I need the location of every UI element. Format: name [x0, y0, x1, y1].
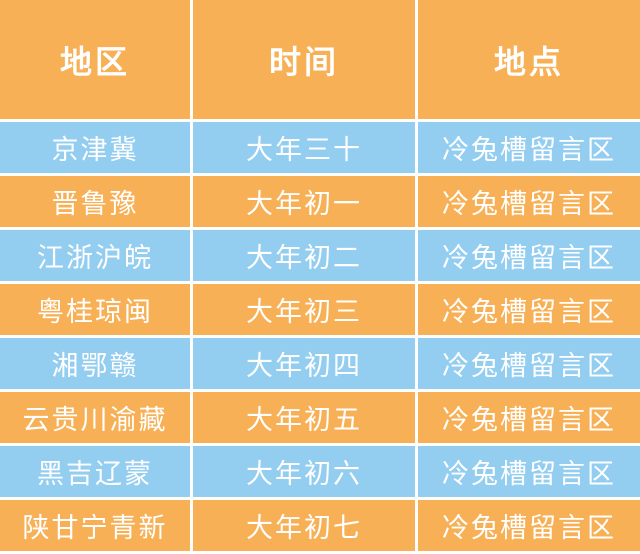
table-row: 京津冀 大年三十 冷兔槽留言区: [0, 122, 640, 176]
cell-time: 大年初四: [193, 338, 418, 392]
cell-place: 冷兔槽留言区: [418, 392, 640, 446]
column-header-region: 地区: [0, 0, 193, 122]
cell-place: 冷兔槽留言区: [418, 500, 640, 554]
cell-region: 粤桂琼闽: [0, 284, 193, 338]
cell-region: 湘鄂赣: [0, 338, 193, 392]
cell-place: 冷兔槽留言区: [418, 176, 640, 230]
schedule-table: 地区 时间 地点 京津冀 大年三十 冷兔槽留言区 晋鲁豫 大年初一 冷兔槽留言区…: [0, 0, 640, 554]
table-header: 地区 时间 地点: [0, 0, 640, 122]
cell-region: 晋鲁豫: [0, 176, 193, 230]
cell-region: 黑吉辽蒙: [0, 446, 193, 500]
cell-time: 大年初七: [193, 500, 418, 554]
header-row: 地区 时间 地点: [0, 0, 640, 122]
cell-time: 大年初六: [193, 446, 418, 500]
cell-place: 冷兔槽留言区: [418, 122, 640, 176]
cell-place: 冷兔槽留言区: [418, 284, 640, 338]
table-row: 黑吉辽蒙 大年初六 冷兔槽留言区: [0, 446, 640, 500]
cell-time: 大年三十: [193, 122, 418, 176]
table-row: 晋鲁豫 大年初一 冷兔槽留言区: [0, 176, 640, 230]
table-row: 江浙沪皖 大年初二 冷兔槽留言区: [0, 230, 640, 284]
table-row: 粤桂琼闽 大年初三 冷兔槽留言区: [0, 284, 640, 338]
cell-time: 大年初三: [193, 284, 418, 338]
cell-place: 冷兔槽留言区: [418, 446, 640, 500]
column-header-place: 地点: [418, 0, 640, 122]
cell-region: 陕甘宁青新: [0, 500, 193, 554]
column-header-time: 时间: [193, 0, 418, 122]
cell-place: 冷兔槽留言区: [418, 338, 640, 392]
table-row: 湘鄂赣 大年初四 冷兔槽留言区: [0, 338, 640, 392]
table-row: 云贵川渝藏 大年初五 冷兔槽留言区: [0, 392, 640, 446]
cell-place: 冷兔槽留言区: [418, 230, 640, 284]
cell-region: 江浙沪皖: [0, 230, 193, 284]
cell-time: 大年初一: [193, 176, 418, 230]
table-body: 京津冀 大年三十 冷兔槽留言区 晋鲁豫 大年初一 冷兔槽留言区 江浙沪皖 大年初…: [0, 122, 640, 554]
cell-region: 京津冀: [0, 122, 193, 176]
cell-time: 大年初五: [193, 392, 418, 446]
cell-time: 大年初二: [193, 230, 418, 284]
cell-region: 云贵川渝藏: [0, 392, 193, 446]
table-row: 陕甘宁青新 大年初七 冷兔槽留言区: [0, 500, 640, 554]
